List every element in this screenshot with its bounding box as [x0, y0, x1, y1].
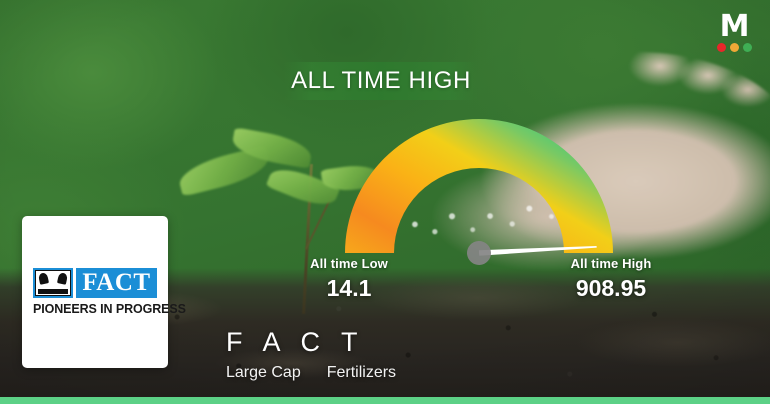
all-time-low-label: All time Low — [310, 256, 388, 271]
amber-dot-icon — [730, 43, 739, 52]
moneycontrol-logo: M — [712, 12, 756, 54]
company-sector: Fertilizers — [327, 364, 396, 382]
crest-plate — [35, 270, 71, 296]
fact-logo-row: FACT — [33, 268, 157, 298]
company-info: F A C T Large Cap Fertilizers — [226, 326, 396, 382]
company-market-cap: Large Cap — [226, 364, 301, 382]
all-time-high-block: All time High 908.95 — [571, 256, 652, 302]
all-time-high-label: All time High — [571, 256, 652, 271]
gauge-arc-band — [345, 119, 613, 253]
fact-logo: FACT PIONEERS IN PROGRESS — [33, 268, 157, 316]
all-time-low-value: 14.1 — [310, 274, 388, 302]
fact-wordmark-text: FACT — [82, 270, 150, 296]
headline-banner: ALL TIME HIGH — [284, 62, 478, 100]
brand-dots — [717, 43, 752, 52]
red-dot-icon — [717, 43, 726, 52]
all-time-low-block: All time Low 14.1 — [310, 256, 388, 302]
fact-wordmark: FACT — [76, 268, 157, 298]
company-meta: Large Cap Fertilizers — [226, 364, 396, 382]
company-logo-card: FACT PIONEERS IN PROGRESS — [22, 216, 168, 368]
crest-base — [38, 289, 68, 294]
company-name: F A C T — [226, 326, 396, 358]
bottom-accent-bar — [0, 397, 770, 404]
all-time-high-value: 908.95 — [571, 274, 652, 302]
page-title: ALL TIME HIGH — [291, 67, 471, 95]
green-dot-icon — [743, 43, 752, 52]
fact-tagline: PIONEERS IN PROGRESS — [33, 302, 157, 316]
brand-letter-m: M — [720, 12, 749, 41]
elephants-crest-icon — [33, 268, 73, 298]
all-time-high-card: M ALL TIME HIGH — [0, 0, 770, 404]
